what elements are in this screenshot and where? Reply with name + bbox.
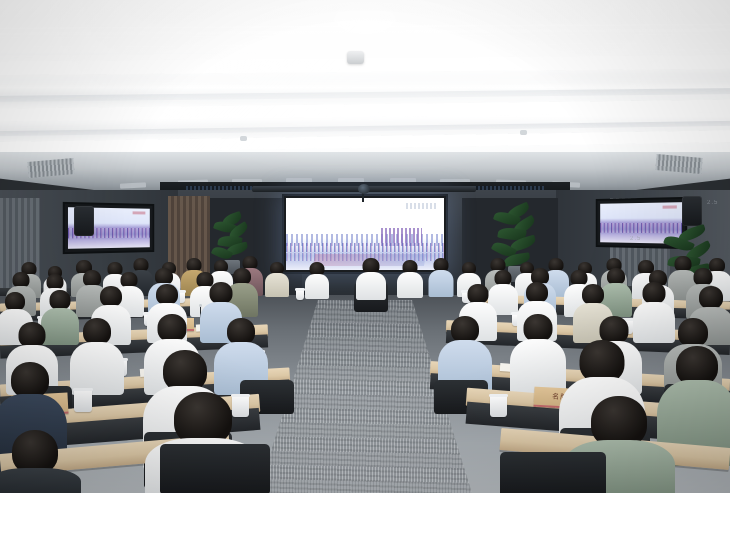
audience-person xyxy=(74,318,120,394)
screen-watermark-icon xyxy=(406,203,438,209)
wall-speaker xyxy=(682,196,702,226)
tea-cup xyxy=(490,396,507,417)
audience-person xyxy=(636,282,672,342)
presenter-front-row xyxy=(358,258,384,298)
camera-icon[interactable] xyxy=(358,184,370,194)
audience-person xyxy=(514,314,562,394)
wall-sign: 2.5 xyxy=(707,200,718,206)
audience-person-foreground xyxy=(0,430,70,493)
office-chair xyxy=(160,444,270,493)
tea-cup xyxy=(296,290,304,300)
ceiling-light-strip xyxy=(0,99,730,122)
ceiling-light-strip xyxy=(0,55,730,76)
ceiling xyxy=(0,0,730,175)
office-chair xyxy=(500,452,606,493)
audience-person xyxy=(398,260,422,298)
wall-sign: 2.5 xyxy=(630,236,641,242)
letterbox-bottom xyxy=(0,493,730,548)
audience-person xyxy=(430,258,452,296)
ceiling-light-strip xyxy=(0,34,730,47)
audience-person xyxy=(306,262,328,298)
screen-watermark-icon xyxy=(133,211,146,214)
audience-person xyxy=(266,262,288,296)
microphone-icon xyxy=(199,304,202,307)
smoke-detector-icon xyxy=(347,51,364,64)
ceiling-spotlight xyxy=(240,136,247,141)
ceiling-spotlight xyxy=(520,130,527,135)
conference-room-photo: 2.5 2.5 xyxy=(0,0,730,493)
screen-watermark-icon xyxy=(663,205,677,208)
cityscape-band xyxy=(286,243,444,252)
wall-speaker xyxy=(74,206,94,236)
tea-cup xyxy=(74,390,92,412)
